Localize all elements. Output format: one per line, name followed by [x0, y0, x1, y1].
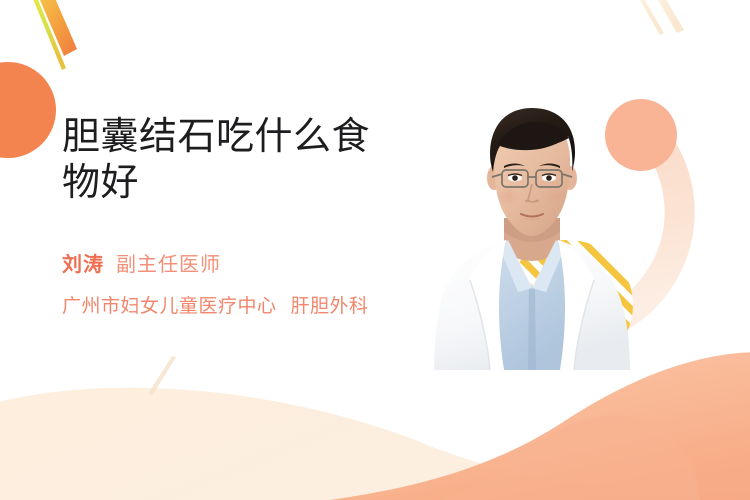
doctor-meta-row: 刘涛 副主任医师 [62, 248, 221, 277]
doctor-affiliation-row: 广州市妇女儿童医疗中心 肝胆外科 [62, 291, 369, 318]
doctor-info-card: 胆囊结石吃什么食物好 刘涛 副主任医师 广州市妇女儿童医疗中心 肝胆外科 [0, 0, 750, 500]
page-title: 胆囊结石吃什么食物好 [62, 114, 407, 206]
department-name: 肝胆外科 [291, 291, 369, 318]
hospital-name: 广州市妇女儿童医疗中心 [62, 291, 277, 318]
doctor-name: 刘涛 [62, 248, 104, 277]
doctor-rank: 副主任医师 [116, 248, 221, 277]
